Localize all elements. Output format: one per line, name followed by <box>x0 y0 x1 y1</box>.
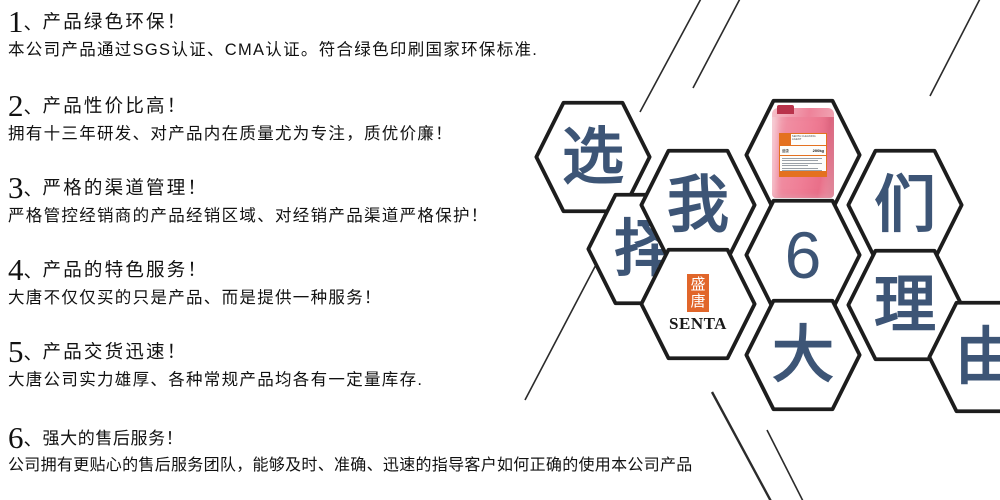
label-logo-square <box>780 134 791 145</box>
label-weight: 200kg <box>813 148 826 153</box>
bottle-cap <box>777 105 794 114</box>
label-footer-bar <box>780 171 826 176</box>
senta-logo: 盛 唐 SENTA <box>639 245 757 363</box>
label-title: SENTA CLEANING AGENT <box>791 134 826 145</box>
product-label: SENTA CLEANING AGENT 盛唐 200kg <box>779 133 827 177</box>
hex-cell-you: 由 <box>927 298 1000 416</box>
honeycomb-graphic: 选 择 我 <box>0 0 1000 500</box>
logo-seal-bottom-char: 唐 <box>690 293 705 310</box>
logo-seal-top-char: 盛 <box>690 276 705 293</box>
label-header: SENTA CLEANING AGENT <box>780 134 826 146</box>
logo-wordmark: SENTA <box>669 314 727 334</box>
product-jerrycan-icon: SENTA CLEANING AGENT 盛唐 200kg <box>772 112 834 198</box>
hex-cell-da: 大 <box>744 296 862 414</box>
logo-seal-icon: 盛 唐 <box>687 274 709 312</box>
hex-char-you: 由 <box>927 298 1000 416</box>
hex-cell-logo: 盛 唐 SENTA <box>639 245 757 363</box>
promo-graphic: 1、产品绿色环保！ 本公司产品通过SGS认证、CMA认证。符合绿色印刷国家环保标… <box>0 0 1000 500</box>
label-code: 盛唐 <box>780 148 813 153</box>
label-subheader: 盛唐 200kg <box>780 146 826 156</box>
hex-char-da: 大 <box>744 296 862 414</box>
